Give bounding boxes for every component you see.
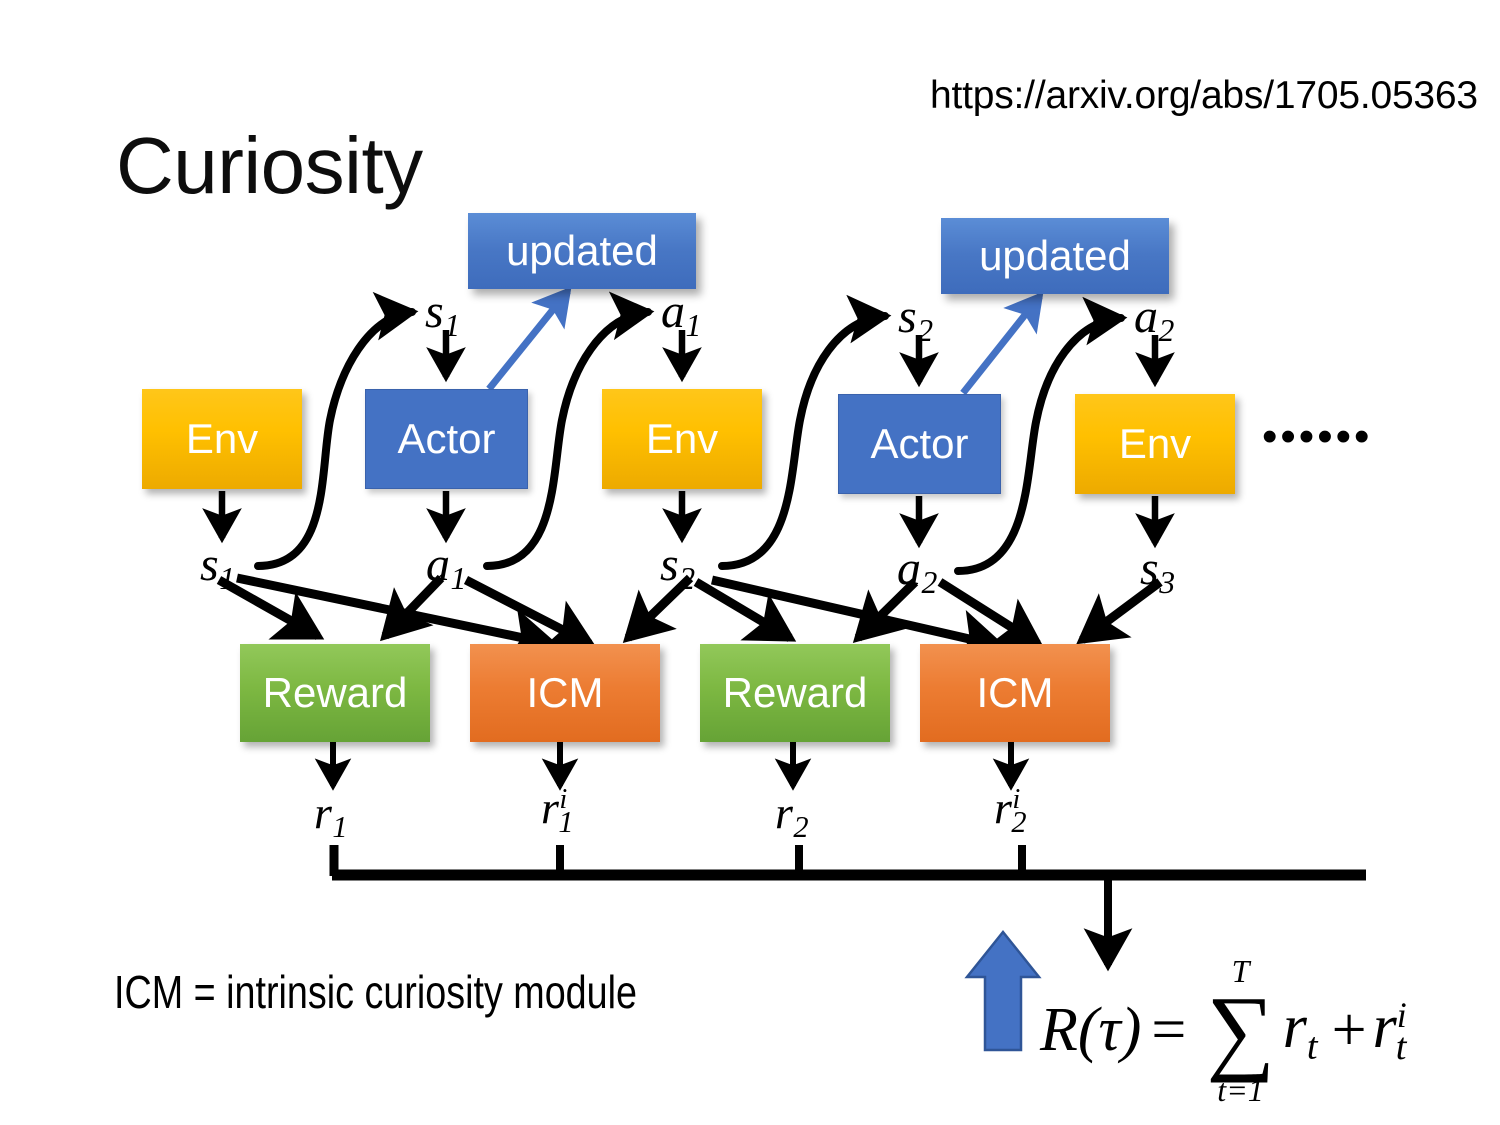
label-r1: r1 xyxy=(314,790,348,842)
label-a1-top: a1 xyxy=(661,288,701,342)
arrow-s2-to-reward2 xyxy=(696,582,790,638)
box-to-signal-arrows xyxy=(222,491,1155,543)
node-actor-1[interactable]: Actor xyxy=(365,389,528,489)
label-a2-top: a2 xyxy=(1134,293,1174,347)
formula-term-extrinsic: rt xyxy=(1283,992,1318,1069)
arrow-a2-to-icm2 xyxy=(940,582,1038,644)
arrow-a1-to-icm1 xyxy=(466,580,590,644)
updated-arrows xyxy=(489,291,1040,393)
label-a2-mid: a2 xyxy=(897,545,937,599)
arrow-actor1-to-updated1 xyxy=(489,291,568,389)
formula-plus: + xyxy=(1332,995,1367,1066)
formula-lhs: R(τ) xyxy=(1040,995,1141,1066)
ellipsis-indicator: •••••• xyxy=(1262,412,1372,462)
box-to-reward-symbol-arrows xyxy=(333,742,1011,786)
formula-equals: = xyxy=(1151,995,1186,1066)
slide-canvas: https://arxiv.org/abs/1705.05363 Curiosi… xyxy=(0,0,1500,1125)
arrow-s2-to-icm2 xyxy=(712,580,1000,646)
node-updated-1[interactable]: updated xyxy=(468,213,696,289)
label-s3-mid: s3 xyxy=(1140,545,1175,599)
formula-term-intrinsic: rit xyxy=(1373,992,1407,1069)
label-r1i: ri1 xyxy=(541,785,574,837)
label-r2: r2 xyxy=(775,790,809,842)
label-r2i: ri2 xyxy=(994,785,1027,837)
return-formula: R(τ) = T ∑ t=1 rt + rit xyxy=(1040,955,1406,1106)
label-s2-mid: s2 xyxy=(660,541,695,595)
signal-to-box-arrows xyxy=(446,330,1155,382)
sigma-icon: ∑ xyxy=(1206,989,1274,1072)
arxiv-url-link[interactable]: https://arxiv.org/abs/1705.05363 xyxy=(930,74,1478,118)
node-reward-1[interactable]: Reward xyxy=(240,644,430,742)
legend-note: ICM = intrinsic curiosity module xyxy=(114,965,637,1019)
node-updated-2[interactable]: updated xyxy=(941,218,1169,294)
arrow-actor2-to-updated2 xyxy=(963,296,1040,393)
page-title: Curiosity xyxy=(116,120,423,212)
label-s2-top: s2 xyxy=(898,293,933,347)
label-a1-mid: a1 xyxy=(426,541,466,595)
arrow-s1-to-icm1 xyxy=(237,578,552,644)
node-reward-2[interactable]: Reward xyxy=(700,644,890,742)
label-s1-top: s1 xyxy=(425,288,460,342)
summation-operator: T ∑ t=1 xyxy=(1206,955,1274,1106)
node-env-3[interactable]: Env xyxy=(1075,394,1235,494)
node-actor-2[interactable]: Actor xyxy=(838,394,1001,494)
sum-lower-limit: t=1 xyxy=(1217,1074,1263,1106)
node-icm-2[interactable]: ICM xyxy=(920,644,1110,742)
node-env-2[interactable]: Env xyxy=(602,389,762,489)
node-icm-1[interactable]: ICM xyxy=(470,644,660,742)
label-s1-mid: s1 xyxy=(200,541,235,595)
reward-timeline xyxy=(332,845,1366,876)
up-arrow-icon xyxy=(967,932,1039,1050)
node-env-1[interactable]: Env xyxy=(142,389,302,489)
